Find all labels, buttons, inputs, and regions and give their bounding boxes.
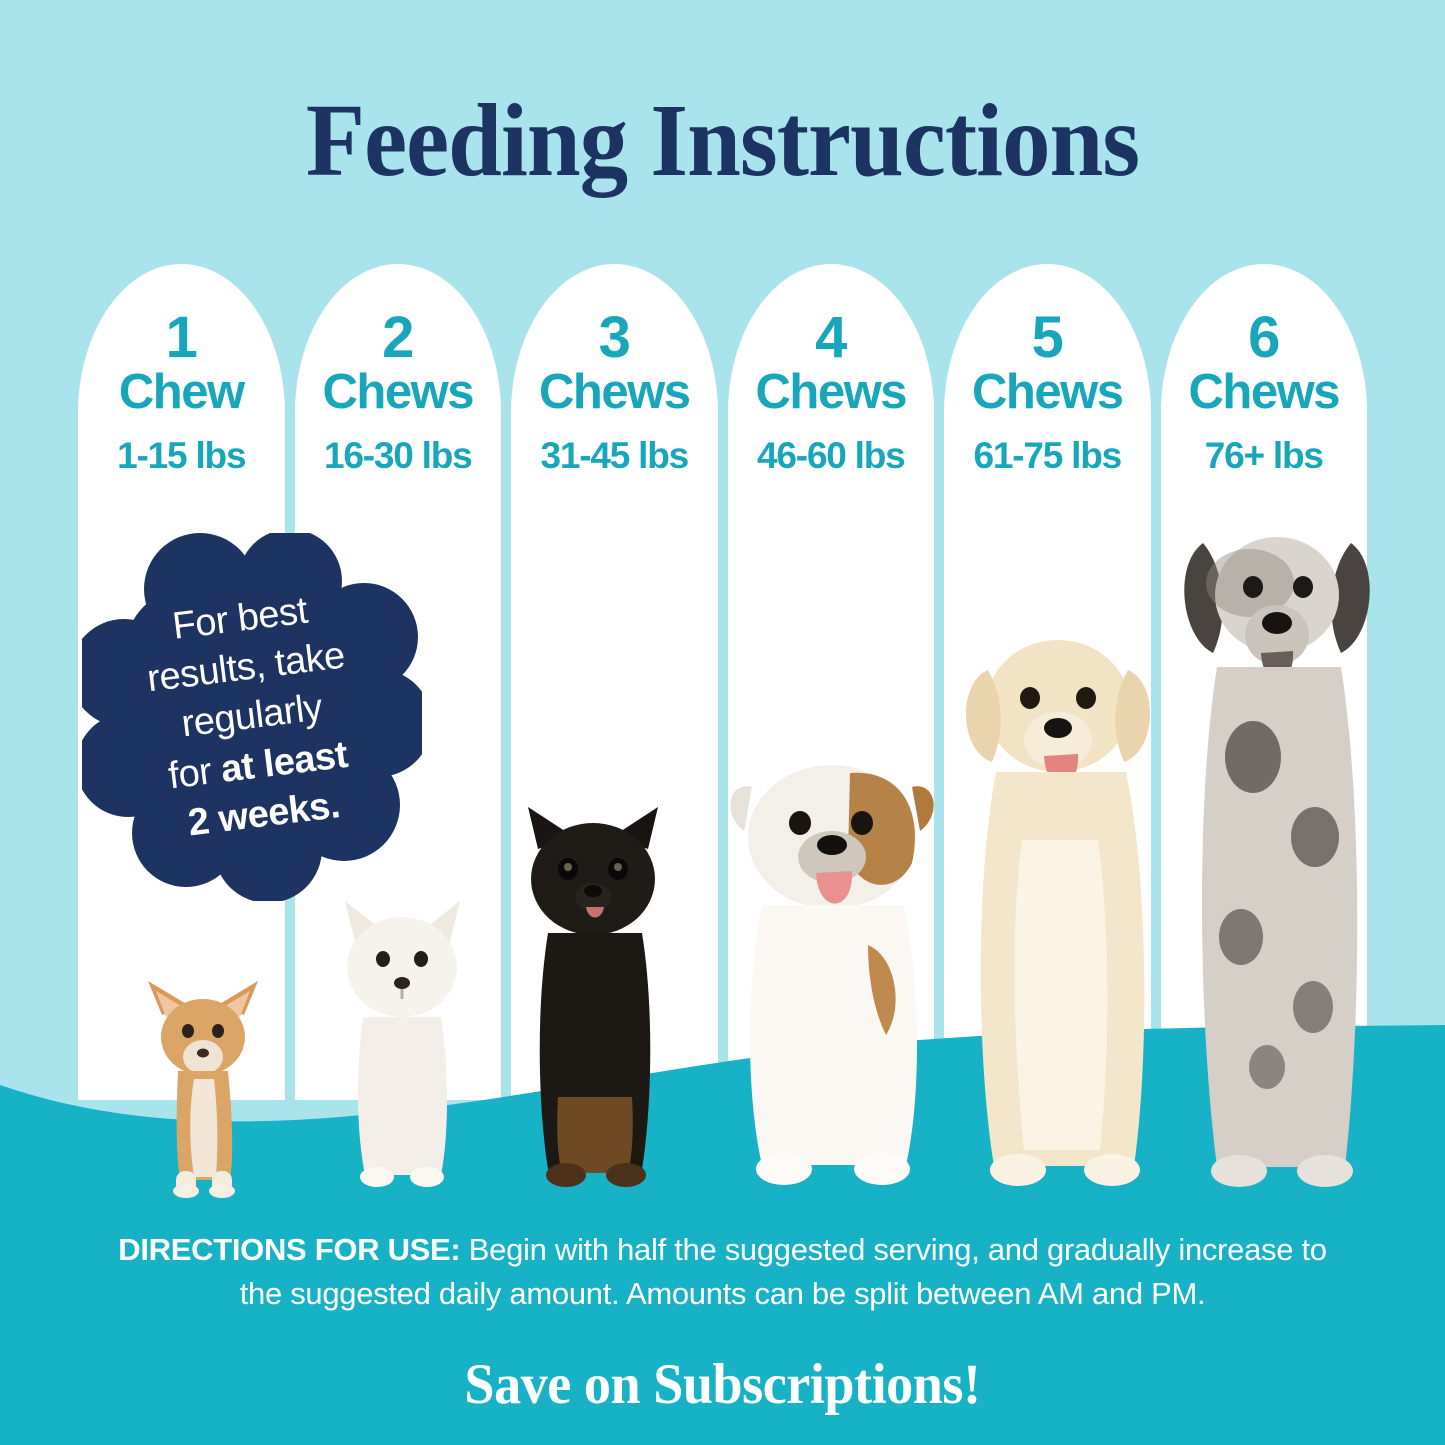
dose-unit-label: Chews: [728, 366, 935, 419]
dose-number: 3: [511, 310, 718, 366]
dog-chihuahua: [118, 975, 288, 1200]
dose-unit-label: Chews: [944, 366, 1151, 419]
dose-unit-label: Chews: [511, 366, 718, 419]
dose-unit-label: Chews: [1161, 366, 1368, 419]
dog-brussels-griffon: [490, 797, 705, 1197]
dog-bulldog: [700, 745, 965, 1195]
directions-for-use: DIRECTIONS FOR USE: Begin with half the …: [95, 1228, 1350, 1316]
badge-line-4-prefix: for: [166, 749, 224, 797]
dose-unit-label: Chews: [295, 366, 502, 419]
weight-range: 61-75 lbs: [944, 435, 1151, 477]
feeding-instructions-infographic: Feeding Instructions 1 Chew 1-15 lbs 2 C…: [0, 0, 1445, 1445]
weight-range: 31-45 lbs: [511, 435, 718, 477]
weight-range: 46-60 lbs: [728, 435, 935, 477]
best-results-badge: For best results, take regularly for at …: [82, 533, 422, 901]
weight-range: 76+ lbs: [1161, 435, 1368, 477]
dose-number: 5: [944, 310, 1151, 366]
dog-great-dane: [1155, 507, 1400, 1197]
page-title: Feeding Instructions: [51, 86, 1395, 195]
save-on-subscriptions: Save on Subscriptions!: [36, 1352, 1409, 1417]
weight-range: 1-15 lbs: [78, 435, 285, 477]
dose-unit-label: Chew: [78, 366, 285, 419]
dog-pomeranian: [315, 885, 490, 1195]
dose-number: 1: [78, 310, 285, 366]
dose-number: 2: [295, 310, 502, 366]
dose-number: 4: [728, 310, 935, 366]
directions-label: DIRECTIONS FOR USE:: [118, 1232, 460, 1267]
weight-range: 16-30 lbs: [295, 435, 502, 477]
dose-number: 6: [1161, 310, 1368, 366]
badge-text-block: For best results, take regularly for at …: [61, 514, 443, 921]
